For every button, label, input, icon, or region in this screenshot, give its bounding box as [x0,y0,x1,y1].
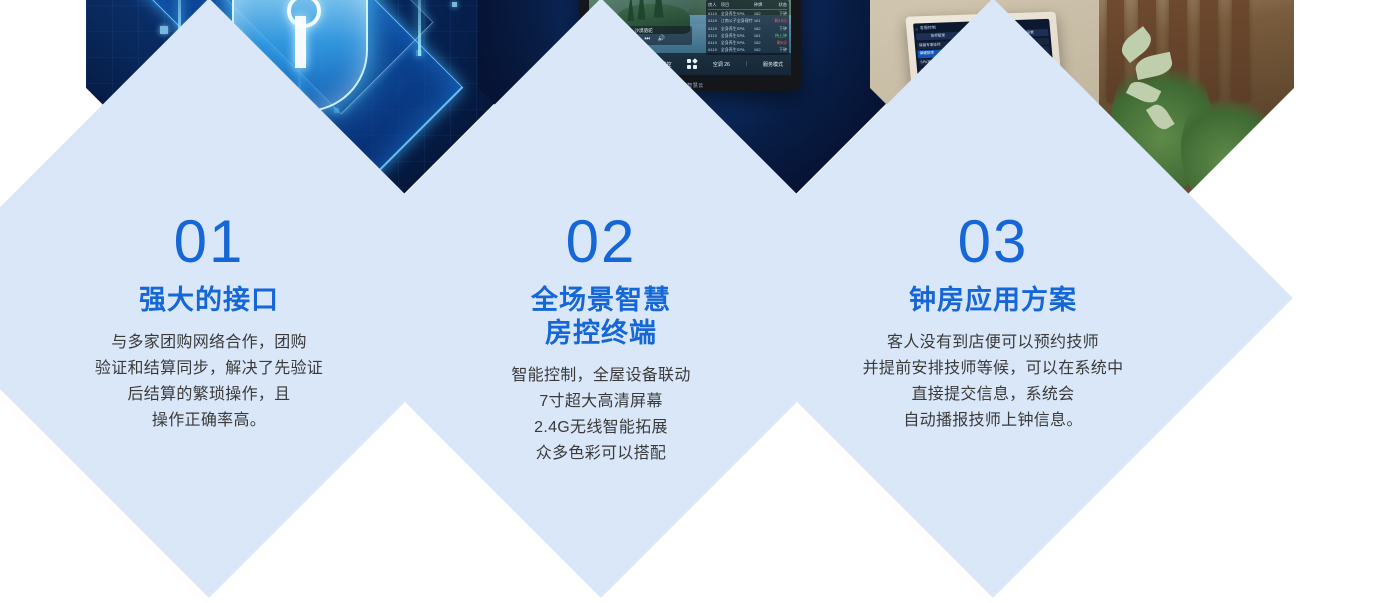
nav-divider: | [746,61,747,67]
diamond-feature-grid: 01 强大的接口 与多家团购网络合作，团购 验证和结算同步，解决了先验证 后结算… [0,0,1381,603]
apps-grid-icon [687,59,697,69]
card-description: 智能控制，全屋设备联动 7寸超大高清屏幕 2.4G无线智能拓展 众多色彩可以搭配 [436,363,766,467]
card-number: 03 [828,212,1158,272]
table-row: 6119 全身养生SPA 162 下钟 [708,24,787,31]
home-icon: ⌂ [915,26,918,31]
table-row: 6119 全身养生SPA 161 待上钟 [708,32,787,39]
nav-item-service-mode: 服务模式 [763,61,783,68]
table-row: 6119 全身养生SPA 162 剩8分 [708,39,787,46]
table-header-row: 房人 项目 钟牌 状态 [708,2,787,10]
nav-item-aircon: 空调 26 [713,61,730,68]
card-description: 与多家团购网络合作，团购 验证和结算同步，解决了先验证 后结算的繁琐操作，且 操… [44,330,374,434]
table-row: 6119 全身养生SPA 162 下钟 [708,46,787,53]
service-table: 房人 项目 钟牌 状态 6119 全身养生SPA 162 下钟 6119 [706,0,789,55]
card-number: 01 [44,212,374,272]
panel-header-title: 客服控制 [920,25,937,32]
table-row: 6119 江南公子全身理疗 161 剩15分 [708,17,787,24]
plant-foliage [1181,85,1271,212]
card-number: 02 [436,212,766,272]
card-description: 客人没有到店便可以预约技师 并提前安排技师等候，可以在系统中 直接提交信息，系统… [828,330,1158,434]
card-title: 钟房应用方案 [828,284,1158,317]
table-row: 6119 全身养生SPA 162 下钟 [708,10,787,17]
